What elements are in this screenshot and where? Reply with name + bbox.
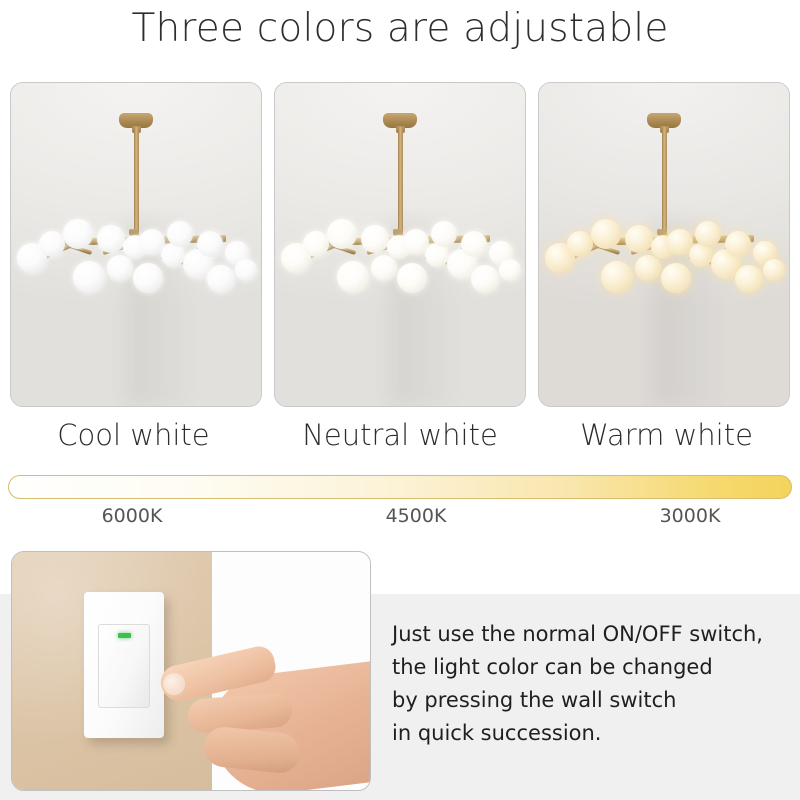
globe <box>499 259 521 281</box>
wall-switch-photo[interactable] <box>11 551 371 791</box>
globe <box>235 259 257 281</box>
globe <box>591 219 621 249</box>
caption-cool-white: Cool white <box>10 418 257 460</box>
warm-white-photo[interactable] <box>538 82 790 407</box>
instruction-line-4: in quick succession. <box>392 717 790 750</box>
kelvin-label-4500k: 4500K <box>386 505 447 527</box>
suspension-rod <box>398 127 403 239</box>
globe <box>601 261 633 293</box>
switch-rocker[interactable] <box>98 624 150 708</box>
chandelier-neutral-white <box>275 83 525 406</box>
globe <box>471 265 499 293</box>
fingernail <box>161 671 187 697</box>
chandelier-warm-white <box>539 83 789 406</box>
caption-neutral-white: Neutral white <box>277 418 524 460</box>
globe <box>431 221 457 247</box>
globe <box>327 219 357 249</box>
kelvin-label-3000k: 3000K <box>660 505 721 527</box>
globe <box>461 231 487 257</box>
globe <box>397 263 427 293</box>
globe <box>635 255 661 281</box>
globe <box>567 231 593 257</box>
globe <box>625 225 653 253</box>
globe <box>63 219 93 249</box>
globe <box>73 261 105 293</box>
instruction-text: Just use the normal ON/OFF switch, the l… <box>392 618 790 750</box>
instruction-line-1: Just use the normal ON/OFF switch, <box>392 618 790 651</box>
globe <box>107 255 133 281</box>
instruction-line-3: by pressing the wall switch <box>392 684 790 717</box>
instruction-line-2: the light color can be changed <box>392 651 790 684</box>
chandelier-cool-white <box>11 83 261 406</box>
middle-finger <box>187 692 293 733</box>
caption-warm-white: Warm white <box>543 418 790 460</box>
globe <box>167 221 193 247</box>
globe <box>337 261 369 293</box>
globe <box>735 265 763 293</box>
cool-white-photo[interactable] <box>10 82 262 407</box>
neutral-white-photo[interactable] <box>274 82 526 407</box>
suspension-rod <box>134 127 139 239</box>
globe <box>695 221 721 247</box>
color-mode-panels <box>0 82 800 407</box>
globe <box>97 225 125 253</box>
globe <box>371 255 397 281</box>
hand-pressing-switch <box>152 644 371 791</box>
globe <box>661 263 691 293</box>
color-mode-captions: Cool white Neutral white Warm white <box>0 418 800 460</box>
globe <box>725 231 751 257</box>
globe <box>207 265 235 293</box>
globe <box>39 231 65 257</box>
led-indicator-icon <box>118 633 131 638</box>
color-temperature-gradient-bar <box>8 475 792 499</box>
page-title: Three colors are adjustable <box>0 6 800 51</box>
ceiling-canopy <box>119 113 153 128</box>
kelvin-label-6000k: 6000K <box>102 505 163 527</box>
ceiling-canopy <box>647 113 681 128</box>
suspension-rod <box>662 127 667 239</box>
ceiling-canopy <box>383 113 417 128</box>
globe <box>763 259 785 281</box>
globe <box>361 225 389 253</box>
globe <box>303 231 329 257</box>
globe <box>133 263 163 293</box>
color-temperature-labels: 6000K 4500K 3000K <box>0 505 800 531</box>
globe <box>197 231 223 257</box>
